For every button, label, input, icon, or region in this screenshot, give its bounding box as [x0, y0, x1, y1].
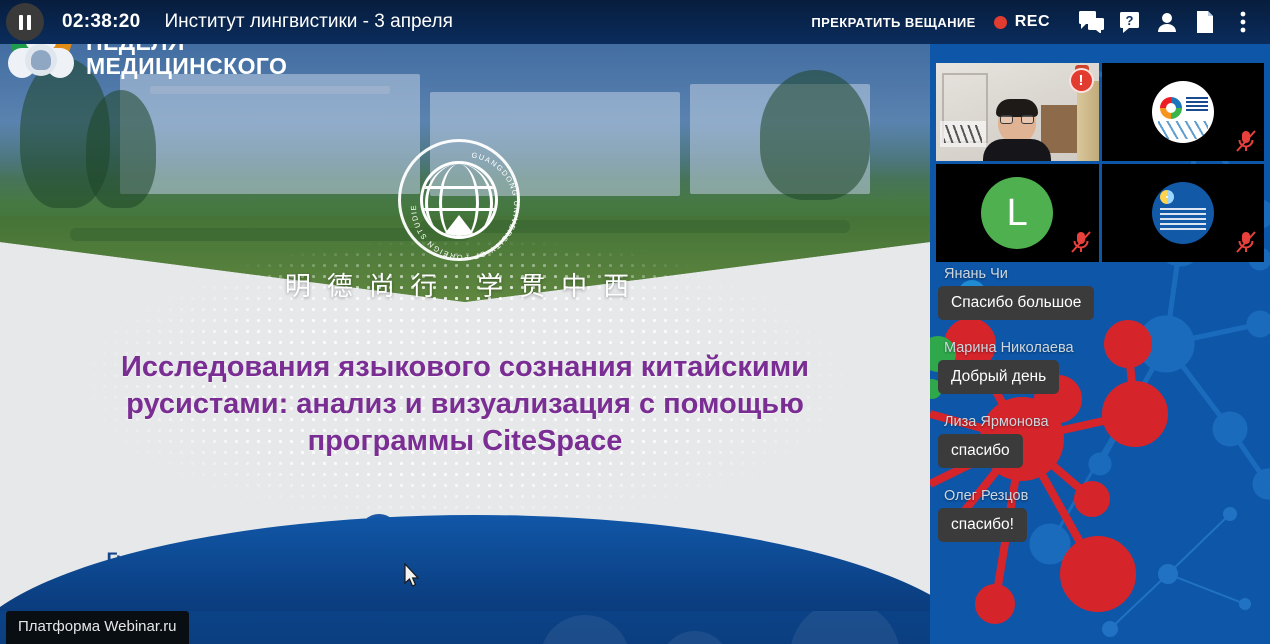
avatar: L [981, 177, 1053, 249]
platform-tooltip: Платформа Webinar.ru [6, 611, 189, 644]
mic-muted-icon [1236, 129, 1256, 153]
video-tile-logo-white[interactable] [1102, 63, 1265, 161]
chat-sender: Олег Резцов [944, 488, 1262, 504]
chat-sender: Янань Чи [944, 266, 1262, 282]
pause-button[interactable] [6, 3, 44, 41]
university-motto: 明德尚行 学贯中西 [0, 266, 930, 303]
pause-icon [19, 15, 31, 30]
seal-ring-text: GUANGDONG UNIVERSITY OF FOREIGN STUDIES [401, 142, 529, 270]
avatar-letter: L [1007, 192, 1028, 235]
video-tile-avatar-letter[interactable]: L [936, 164, 1099, 262]
session-timer: 02:38:20 [62, 11, 140, 33]
svg-text:GUANGDONG UNIVERSITY OF FOREIG: GUANGDONG UNIVERSITY OF FOREIGN STUDIES [401, 142, 521, 262]
slide: GUANGDONG UNIVERSITY OF FOREIGN STUDIES … [0, 44, 930, 611]
recording-indicator[interactable]: REC [994, 13, 1050, 31]
mouse-cursor [404, 563, 421, 593]
chat-icon[interactable] [1072, 3, 1110, 41]
record-label: REC [1015, 13, 1050, 31]
question-icon[interactable]: ? [1110, 3, 1148, 41]
video-tile-logo-blue[interactable] [1102, 164, 1265, 262]
chat-message: Марина Николаева Добрый день [938, 340, 1262, 394]
right-panel: ! L [930, 44, 1270, 644]
svg-text:?: ? [1125, 13, 1133, 28]
chat-text: спасибо! [938, 508, 1027, 542]
video-tiles-grid: ! L [936, 63, 1264, 262]
mic-muted-icon [1236, 230, 1256, 254]
files-icon[interactable] [1186, 3, 1224, 41]
alert-icon[interactable]: ! [1069, 68, 1094, 93]
chat-message: Лиза Ярмонова спасибо [938, 414, 1262, 468]
chat-text: спасибо [938, 434, 1023, 468]
stop-broadcast-button[interactable]: ПРЕКРАТИТЬ ВЕЩАНИЕ [811, 15, 975, 30]
avatar [1152, 81, 1214, 143]
chat-message: Олег Резцов спасибо! [938, 488, 1262, 542]
webinar-app: 02:38:20 Институт лингвистики - 3 апреля… [0, 0, 1270, 644]
session-title: Институт лингвистики - 3 апреля [164, 11, 452, 33]
top-toolbar: 02:38:20 Институт лингвистики - 3 апреля… [0, 0, 1270, 44]
slide-title: Исследования языкового сознания китайски… [70, 349, 860, 460]
chat-sender: Лиза Ярмонова [944, 414, 1262, 430]
chat-message: Янань Чи Спасибо большое [938, 266, 1262, 320]
chat-messages-list[interactable]: Янань Чи Спасибо большое Марина Николаев… [930, 266, 1270, 644]
chat-text: Добрый день [938, 360, 1059, 394]
presentation-area[interactable]: GUANGDONG UNIVERSITY OF FOREIGN STUDIES … [0, 44, 930, 644]
event-logo-line2: МЕДИЦИНСКОГО [86, 55, 287, 79]
chat-text: Спасибо большое [938, 286, 1094, 320]
record-dot-icon [994, 16, 1007, 29]
participants-icon[interactable] [1148, 3, 1186, 41]
university-seal-icon: GUANGDONG UNIVERSITY OF FOREIGN STUDIES [398, 139, 520, 261]
more-options-icon[interactable] [1224, 3, 1262, 41]
chat-sender: Марина Николаева [944, 340, 1262, 356]
video-tile-camera[interactable]: ! [936, 63, 1099, 161]
avatar [1152, 182, 1214, 244]
top-toolbar-actions: ПРЕКРАТИТЬ ВЕЩАНИЕ REC ? [811, 3, 1270, 41]
mic-muted-icon [1071, 230, 1091, 254]
